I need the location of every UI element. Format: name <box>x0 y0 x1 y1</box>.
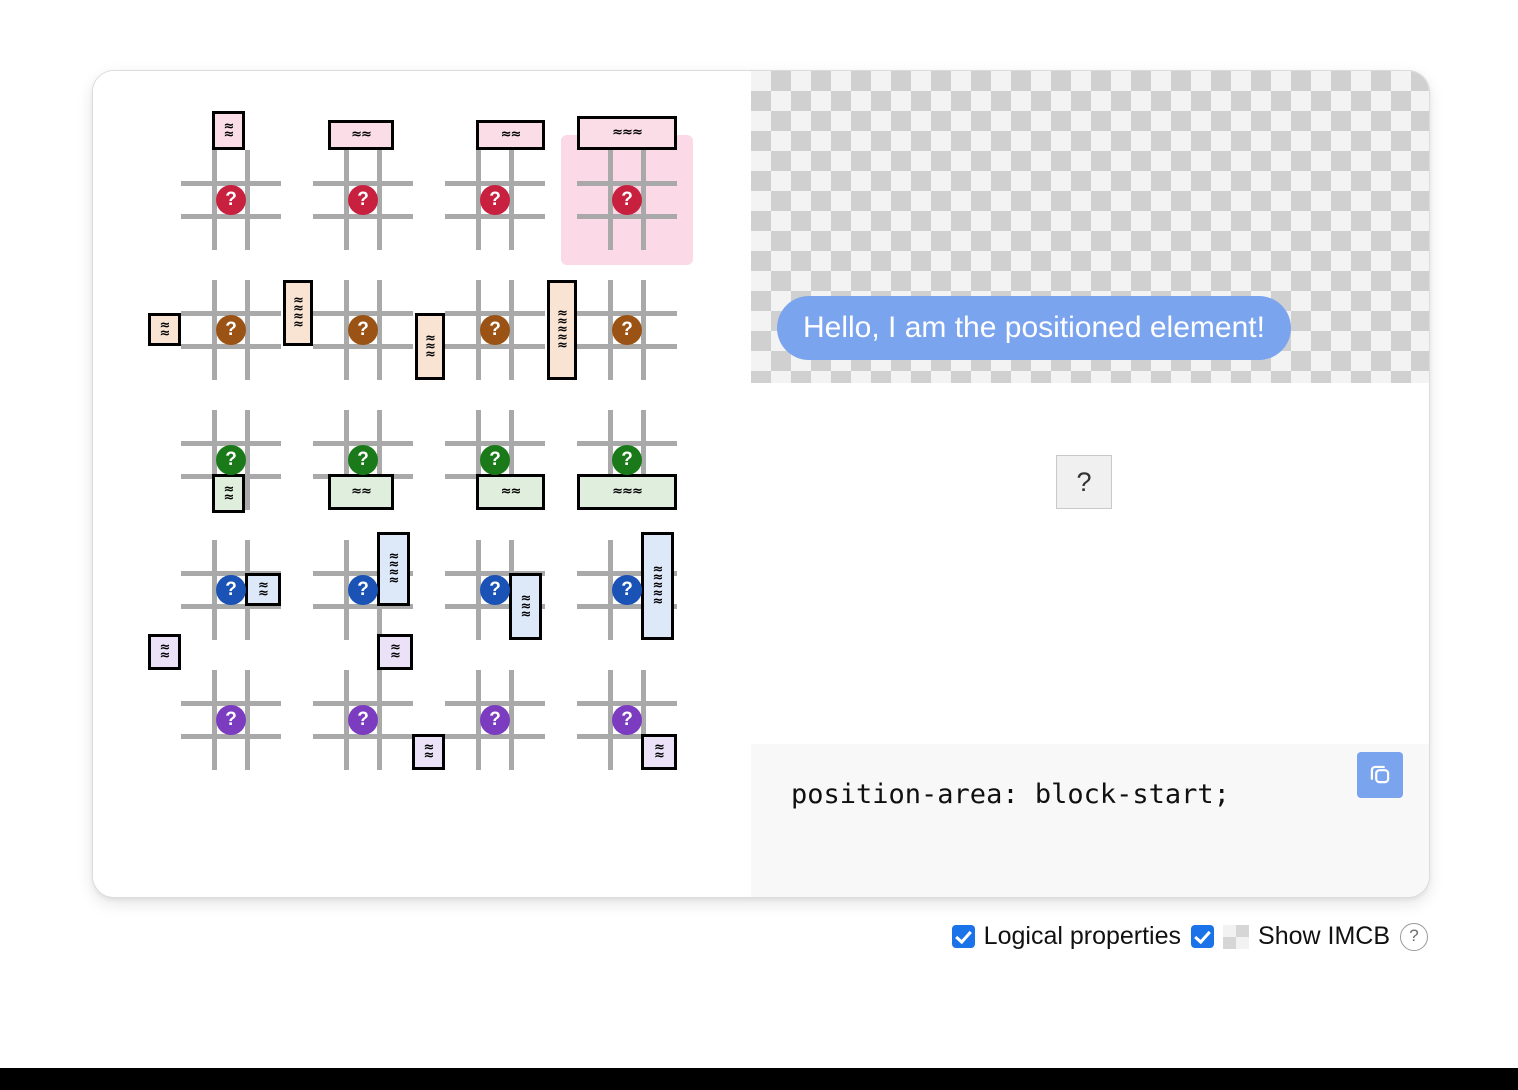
position-area-diagram: ≈≈? <box>445 150 545 250</box>
position-area-option[interactable]: ≈≈≈≈≈? <box>561 265 693 395</box>
anchor-dot-icon: ? <box>216 185 246 215</box>
anchor-dot-icon: ? <box>216 315 246 345</box>
position-area-diagram: ≈≈≈? <box>445 280 545 380</box>
anchor-dot-icon: ? <box>480 315 510 345</box>
position-area-diagram: ≈≈? <box>445 410 545 510</box>
copy-code-button[interactable] <box>1357 752 1403 798</box>
positioned-box-preview: ≈≈≈≈ <box>377 532 410 606</box>
position-area-option[interactable]: ≈≈? <box>561 655 693 785</box>
squiggle-text-line: ≈≈ <box>351 488 371 496</box>
position-area-option[interactable]: ≈≈≈? <box>429 265 561 395</box>
position-area-option-grid[interactable]: ≈≈?≈≈?≈≈?≈≈≈?≈≈?≈≈≈≈?≈≈≈?≈≈≈≈≈?≈≈?≈≈?≈≈?… <box>165 135 693 785</box>
position-area-option[interactable]: ≈≈? <box>429 135 561 265</box>
position-area-option[interactable]: ≈≈? <box>297 655 429 785</box>
tool-controls-bar: Logical properties Show IMCB ? <box>0 922 1428 951</box>
show-imcb-control[interactable]: Show IMCB <box>1191 922 1390 951</box>
position-area-diagram: ≈≈? <box>181 540 281 640</box>
anchor-dot-icon: ? <box>612 315 642 345</box>
positioned-box-preview: ≈≈ <box>476 474 545 510</box>
checkerboard-swatch-icon <box>1223 925 1249 949</box>
positioned-box-preview: ≈≈≈ <box>577 474 677 510</box>
positioned-box-preview: ≈≈ <box>148 634 181 670</box>
page-bottom-strip <box>0 1068 1518 1090</box>
squiggle-text-line: ≈ <box>224 131 234 139</box>
position-area-option[interactable]: ≈≈≈? <box>561 135 693 265</box>
positioned-box-preview: ≈≈≈ <box>415 313 445 380</box>
show-imcb-label: Show IMCB <box>1258 922 1390 951</box>
position-area-diagram: ≈≈? <box>313 670 413 770</box>
position-area-option[interactable]: ≈≈≈? <box>561 395 693 525</box>
anchor-dot-icon: ? <box>480 185 510 215</box>
anchor-dot-icon: ? <box>216 445 246 475</box>
anchor-dot-icon: ? <box>612 185 642 215</box>
position-area-diagram: ≈≈≈≈? <box>313 540 413 640</box>
position-area-diagram: ≈≈? <box>313 410 413 510</box>
position-area-option[interactable]: ≈≈? <box>297 395 429 525</box>
imcb-checkerboard-region: Hello, I am the positioned element! <box>751 71 1429 383</box>
squiggle-text-line: ≈ <box>654 752 664 760</box>
position-area-option[interactable]: ≈≈? <box>429 395 561 525</box>
position-area-diagram: ≈≈? <box>445 670 545 770</box>
position-area-option[interactable]: ≈≈? <box>165 265 297 395</box>
squiggle-text-line: ≈ <box>160 652 170 660</box>
position-area-diagram: ≈≈? <box>313 150 413 250</box>
position-area-diagram: ≈≈? <box>181 150 281 250</box>
anchor-dot-icon: ? <box>348 705 378 735</box>
position-area-diagram: ≈≈≈? <box>445 540 545 640</box>
position-area-diagram: ≈≈? <box>181 280 281 380</box>
position-area-tool-card: ≈≈?≈≈?≈≈?≈≈≈?≈≈?≈≈≈≈?≈≈≈?≈≈≈≈≈?≈≈?≈≈?≈≈?… <box>92 70 1430 898</box>
position-area-option[interactable]: ≈≈≈≈? <box>297 265 429 395</box>
position-area-diagram: ≈≈≈≈? <box>313 280 413 380</box>
position-area-diagram: ≈≈? <box>577 670 677 770</box>
help-icon[interactable]: ? <box>1400 923 1428 951</box>
position-area-option[interactable]: ≈≈? <box>165 655 297 785</box>
anchor-dot-icon: ? <box>612 445 642 475</box>
position-area-diagram: ≈≈≈? <box>577 150 677 250</box>
anchor-dot-icon: ? <box>480 575 510 605</box>
anchor-dot-icon: ? <box>348 315 378 345</box>
squiggle-text-line: ≈ <box>389 577 399 585</box>
squiggle-text-line: ≈ <box>160 330 170 338</box>
anchor-dot-icon: ? <box>348 185 378 215</box>
show-imcb-checkbox[interactable] <box>1191 925 1214 948</box>
squiggle-text-line: ≈ <box>425 351 435 359</box>
positioned-box-preview: ≈≈≈≈≈ <box>641 532 674 640</box>
preview-panel: Hello, I am the positioned element! ? po… <box>751 71 1429 897</box>
squiggle-text-line: ≈ <box>258 590 268 598</box>
positioned-box-preview: ≈≈ <box>328 120 394 150</box>
positioned-box-preview: ≈≈ <box>476 120 545 150</box>
positioned-box-preview: ≈≈ <box>641 734 677 770</box>
squiggle-text-line: ≈ <box>521 611 531 619</box>
squiggle-text-line: ≈ <box>390 652 400 660</box>
positioned-box-preview: ≈≈≈≈≈ <box>547 280 577 380</box>
squiggle-text-line: ≈ <box>293 321 303 329</box>
anchor-dot-icon: ? <box>612 705 642 735</box>
position-area-diagram: ≈≈≈≈≈? <box>577 540 677 640</box>
squiggle-text-line: ≈ <box>653 598 663 606</box>
squiggle-text-line: ≈≈≈ <box>612 129 642 137</box>
position-area-option[interactable]: ≈≈? <box>165 395 297 525</box>
squiggle-text-line: ≈ <box>224 494 234 502</box>
positioned-element-tooltip: Hello, I am the positioned element! <box>777 296 1291 360</box>
squiggle-text-line: ≈ <box>557 342 567 350</box>
positioned-box-preview: ≈≈ <box>212 111 245 150</box>
position-area-picker-panel: ≈≈?≈≈?≈≈?≈≈≈?≈≈?≈≈≈≈?≈≈≈?≈≈≈≈≈?≈≈?≈≈?≈≈?… <box>93 71 751 897</box>
positioned-box-preview: ≈≈ <box>328 474 394 510</box>
squiggle-text-line: ≈ <box>424 752 434 760</box>
positioned-box-preview: ≈≈ <box>377 634 413 670</box>
position-area-option[interactable]: ≈≈? <box>165 135 297 265</box>
anchor-dot-icon: ? <box>216 705 246 735</box>
logical-properties-control[interactable]: Logical properties <box>952 922 1181 951</box>
anchor-dot-icon: ? <box>612 575 642 605</box>
positioned-box-preview: ≈≈≈ <box>509 573 542 640</box>
logical-properties-label: Logical properties <box>984 922 1181 951</box>
logical-properties-checkbox[interactable] <box>952 925 975 948</box>
position-area-option[interactable]: ≈≈? <box>429 655 561 785</box>
positioned-box-preview: ≈≈≈≈ <box>283 280 313 346</box>
squiggle-text-line: ≈≈ <box>351 131 371 139</box>
css-code-text: position-area: block-start; <box>791 779 1230 810</box>
copy-icon <box>1367 761 1393 790</box>
position-area-diagram: ≈≈? <box>181 670 281 770</box>
anchor-dot-icon: ? <box>480 445 510 475</box>
position-area-diagram: ≈≈≈? <box>577 410 677 510</box>
squiggle-text-line: ≈≈ <box>501 488 521 496</box>
position-area-diagram: ≈≈≈≈≈? <box>577 280 677 380</box>
squiggle-text-line: ≈≈ <box>501 131 521 139</box>
anchor-dot-icon: ? <box>348 575 378 605</box>
anchor-dot-icon: ? <box>480 705 510 735</box>
positioned-box-preview: ≈≈ <box>245 573 281 606</box>
position-area-option[interactable]: ≈≈≈? <box>429 525 561 655</box>
anchor-element[interactable]: ? <box>1056 455 1112 509</box>
positioned-box-preview: ≈≈ <box>412 734 445 770</box>
position-area-option[interactable]: ≈≈≈≈≈? <box>561 525 693 655</box>
positioned-box-preview: ≈≈≈ <box>577 116 677 150</box>
positioned-box-preview: ≈≈ <box>212 474 245 513</box>
anchor-dot-icon: ? <box>216 575 246 605</box>
position-area-option[interactable]: ≈≈? <box>297 135 429 265</box>
position-area-option[interactable]: ≈≈? <box>165 525 297 655</box>
positioned-box-preview: ≈≈ <box>148 313 181 346</box>
position-area-diagram: ≈≈? <box>181 410 281 510</box>
anchor-dot-icon: ? <box>348 445 378 475</box>
code-output-panel: position-area: block-start; <box>751 744 1429 897</box>
squiggle-text-line: ≈≈≈ <box>612 488 642 496</box>
